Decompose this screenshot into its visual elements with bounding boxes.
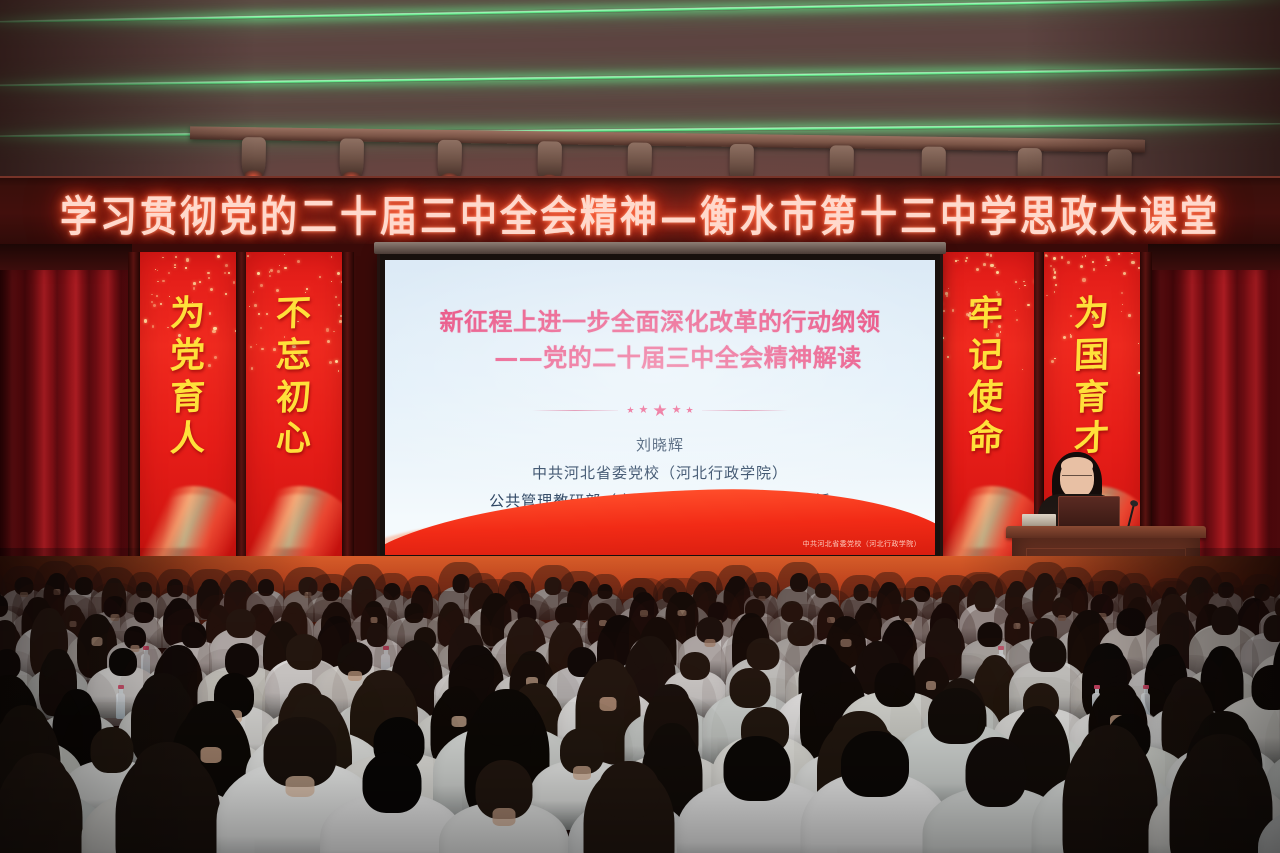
slogan-char: 为 [170,295,206,333]
slide-title-line-1: 新征程上进一步全面深化改革的行动纲领 [385,304,935,340]
slogan-char: 初 [276,379,312,417]
slogan-char: 记 [968,337,1004,375]
banner-text: 学习贯彻党的二十届三中全会精神—衡水市第十三中学思政大课堂 [60,182,1220,243]
presenter-organization: 中共河北省委党校（河北行政学院） [385,460,935,488]
slogan-char: 使 [968,379,1004,417]
slogan-char: 人 [170,421,206,459]
projection-screen: 新征程上进一步全面深化改革的行动纲领 ——党的二十届三中全会精神解读 ★ ★ ★… [380,252,940,560]
audience-head [363,752,422,813]
slogan-char: 牢 [968,295,1004,333]
star-icon: ★ [626,406,634,415]
slogan-char: 育 [170,379,206,417]
slogan-text: 牢 记 使 命 [938,296,1034,458]
slogan-char: 党 [170,337,206,375]
audience-head [599,761,660,818]
slogan-char: 育 [1074,379,1110,417]
audience-member [1258,725,1280,853]
slogan-text: 不 忘 初 心 [246,296,342,458]
divider-rule-right [702,410,788,411]
star-icon: ★ [686,406,694,415]
star-icon: ★ [672,405,682,416]
podium-top [1006,526,1206,538]
slogan-text: 为 国 育 才 [1044,296,1140,458]
presentation-slide: 新征程上进一步全面深化改革的行动纲领 ——党的二十届三中全会精神解读 ★ ★ ★… [385,260,935,555]
audience-head [10,753,68,811]
slide-title: 新征程上进一步全面深化改革的行动纲领 ——党的二十届三中全会精神解读 [385,304,935,376]
slogan-panel-bu-wang-chu-xin: 不 忘 初 心 [246,252,342,564]
slogan-char: 心 [276,421,312,459]
audience-torso [1258,804,1280,853]
slide-divider: ★ ★ ★ ★ ★ [385,402,935,419]
presenter-name: 刘晓辉 [385,432,935,460]
star-icon: ★ [639,405,649,416]
audience-head [1078,725,1141,795]
audience-head [1186,734,1255,802]
curtain-header [0,244,132,270]
stage-curtain-left [0,244,132,574]
slogan-char: 为 [1074,295,1110,333]
panel-divider [342,252,354,564]
divider-stars: ★ ★ ★ ★ ★ [626,402,693,419]
slogan-panel-wei-dang-yu-ren: 为 党 育 人 [140,252,236,564]
speaker-glasses-icon [1062,475,1092,483]
curtain-shading [0,244,132,574]
star-icon: ★ [652,402,667,419]
slogan-char: 国 [1074,337,1110,375]
audience-head [841,731,909,797]
audience-member [568,728,690,853]
audience-member [439,728,569,853]
curtain-header [1148,244,1280,270]
screen-mount-bar [374,242,946,254]
microphone-icon [1127,504,1135,528]
audience-head [965,737,1026,807]
slogan-char: 忘 [276,337,312,375]
slide-title-line-2: ——党的二十届三中全会精神解读 [385,340,935,376]
event-banner: 学习贯彻党的二十届三中全会精神—衡水市第十三中学思政大课堂 [0,176,1280,248]
ceiling-vignette [0,0,1280,186]
auditorium-photo: 学习贯彻党的二十届三中全会精神—衡水市第十三中学思政大课堂 为 党 育 人 [0,0,1280,853]
audience-neck [493,808,516,826]
audience-head [724,736,791,801]
divider-rule-left [532,410,618,411]
audience-seating [0,548,1280,853]
slogan-text: 为 党 育 人 [140,296,236,458]
panel-divider [128,252,140,564]
audience-neck [285,776,314,797]
podium-laptop [1058,496,1120,528]
ceiling [0,0,1280,186]
audience-head [133,742,203,809]
slogan-char: 不 [276,295,312,333]
